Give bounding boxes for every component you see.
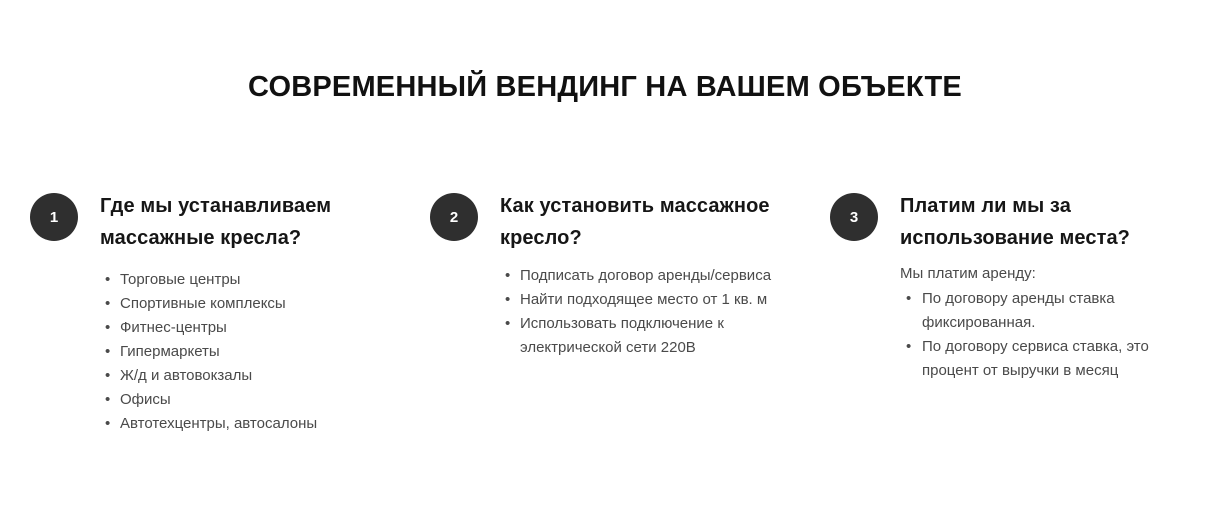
list-item: Ж/д и автовокзалы	[100, 364, 405, 388]
list-item: Автотехцентры, автосалоны	[100, 412, 405, 436]
step-number-badge-3: 3	[830, 193, 878, 241]
faq-column-3-title: Платим ли мы за использование места?	[830, 190, 1190, 254]
list-item: Найти подходящее место от 1 кв. м	[500, 288, 800, 312]
faq-columns: 1 Где мы устанавливаем массажные кресла?…	[0, 190, 1210, 490]
list-item: По договору сервиса ставка, это процент …	[900, 335, 1190, 383]
step-number-badge-2: 2	[430, 193, 478, 241]
faq-column-3-header: 3 Платим ли мы за использование места?	[830, 190, 1190, 254]
list-item: Офисы	[100, 388, 405, 412]
page-title: СОВРЕМЕННЫЙ ВЕНДИНГ НА ВАШЕМ ОБЪЕКТЕ	[0, 71, 1210, 104]
list-item: Гипермаркеты	[100, 340, 405, 364]
list-item: Использовать подключение к электрической…	[500, 312, 800, 360]
faq-column-1-title: Где мы устанавливаем массажные кресла?	[30, 190, 405, 254]
faq-column-2-body: Подписать договор аренды/сервиса Найти п…	[430, 264, 800, 360]
faq-column-3-intro: Мы платим аренду:	[900, 262, 1190, 286]
faq-column-1-body: Торговые центры Спортивные комплексы Фит…	[30, 268, 405, 436]
faq-column-1-list: Торговые центры Спортивные комплексы Фит…	[100, 268, 405, 436]
landing-section: СОВРЕМЕННЫЙ ВЕНДИНГ НА ВАШЕМ ОБЪЕКТЕ 1 Г…	[0, 0, 1210, 525]
list-item: По договору аренды ставка фиксированная.	[900, 287, 1190, 335]
faq-column-1: 1 Где мы устанавливаем массажные кресла?…	[30, 190, 405, 436]
faq-column-2-list: Подписать договор аренды/сервиса Найти п…	[500, 264, 800, 360]
faq-column-2-title: Как установить массажное кресло?	[430, 190, 800, 254]
faq-column-3: 3 Платим ли мы за использование места? М…	[830, 190, 1190, 383]
faq-column-2: 2 Как установить массажное кресло? Подпи…	[430, 190, 800, 360]
faq-column-1-header: 1 Где мы устанавливаем массажные кресла?	[30, 190, 405, 254]
faq-column-3-body: Мы платим аренду: По договору аренды ста…	[830, 262, 1190, 383]
step-number-badge-1: 1	[30, 193, 78, 241]
faq-column-3-list: По договору аренды ставка фиксированная.…	[900, 287, 1190, 383]
list-item: Фитнес-центры	[100, 316, 405, 340]
faq-column-2-header: 2 Как установить массажное кресло?	[430, 190, 800, 254]
list-item: Спортивные комплексы	[100, 292, 405, 316]
list-item: Подписать договор аренды/сервиса	[500, 264, 800, 288]
list-item: Торговые центры	[100, 268, 405, 292]
